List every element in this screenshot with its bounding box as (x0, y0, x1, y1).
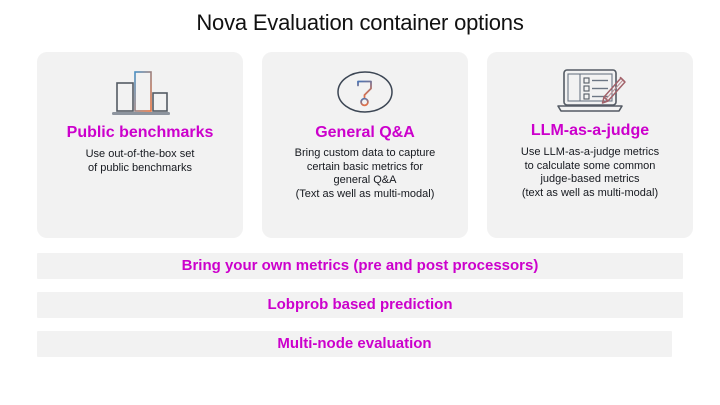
card-heading: LLM-as-a-judge (531, 122, 649, 139)
feature-bar-lobprob-based-prediction[interactable]: Lobprob based prediction (37, 292, 683, 318)
card-public-benchmarks[interactable]: Public benchmarks Use out-of-the-box set… (37, 52, 243, 238)
card-description: Bring custom data to capture certain bas… (295, 147, 436, 201)
card-heading: General Q&A (315, 124, 415, 141)
feature-bar-label: Bring your own metrics (pre and post pro… (182, 258, 539, 274)
feature-bar-list: Bring your own metrics (pre and post pro… (37, 253, 683, 370)
card-description: Use LLM-as-a-judge metrics to calculate … (521, 146, 659, 200)
options-card-row: Public benchmarks Use out-of-the-box set… (37, 52, 693, 238)
card-general-qa[interactable]: General Q&A Bring custom data to capture… (262, 52, 468, 238)
feature-bar-label: Lobprob based prediction (267, 297, 452, 313)
bar-chart-icon (104, 64, 176, 120)
feature-bar-multi-node-evaluation[interactable]: Multi-node evaluation (37, 331, 672, 357)
feature-bar-bring-your-own-metrics[interactable]: Bring your own metrics (pre and post pro… (37, 253, 683, 279)
card-description: Use out-of-the-box set of public benchma… (86, 148, 195, 175)
feature-bar-label: Multi-node evaluation (277, 336, 431, 352)
page-title: Nova Evaluation container options (0, 8, 720, 38)
card-llm-as-a-judge[interactable]: LLM-as-a-judge Use LLM-as-a-judge metric… (487, 52, 693, 238)
question-bubble-icon (327, 64, 403, 120)
laptop-checklist-pencil-icon (547, 64, 633, 118)
card-heading: Public benchmarks (67, 124, 214, 141)
